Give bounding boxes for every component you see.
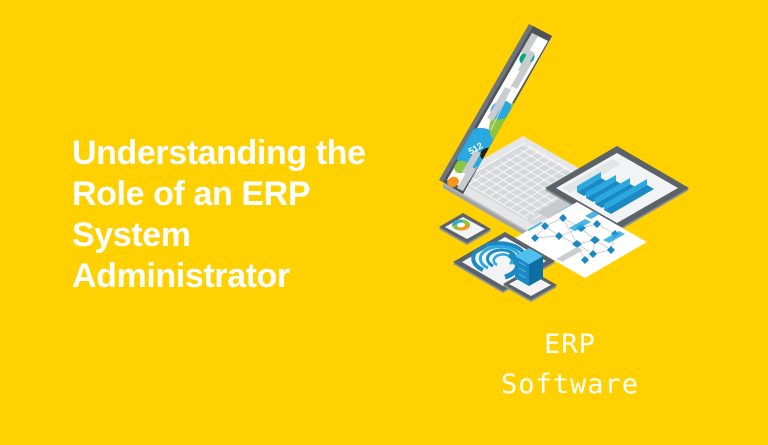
- isometric-erp-devices-illustration: 512 483: [425, 12, 725, 317]
- caption-line-1: ERP: [470, 325, 670, 365]
- svg-text:483: 483: [503, 117, 521, 133]
- erp-banner: Understanding the Role of an ERP System …: [0, 0, 768, 445]
- page-title: Understanding the Role of an ERP System …: [72, 133, 442, 297]
- headline-line-2: Role of an ERP: [72, 174, 442, 215]
- headline-line-1: Understanding the: [72, 133, 442, 174]
- caption-erp-software: ERP Software: [470, 325, 670, 405]
- headline-line-4: Administrator: [72, 256, 442, 297]
- caption-line-2: Software: [470, 365, 670, 405]
- headline-line-3: System: [72, 215, 442, 256]
